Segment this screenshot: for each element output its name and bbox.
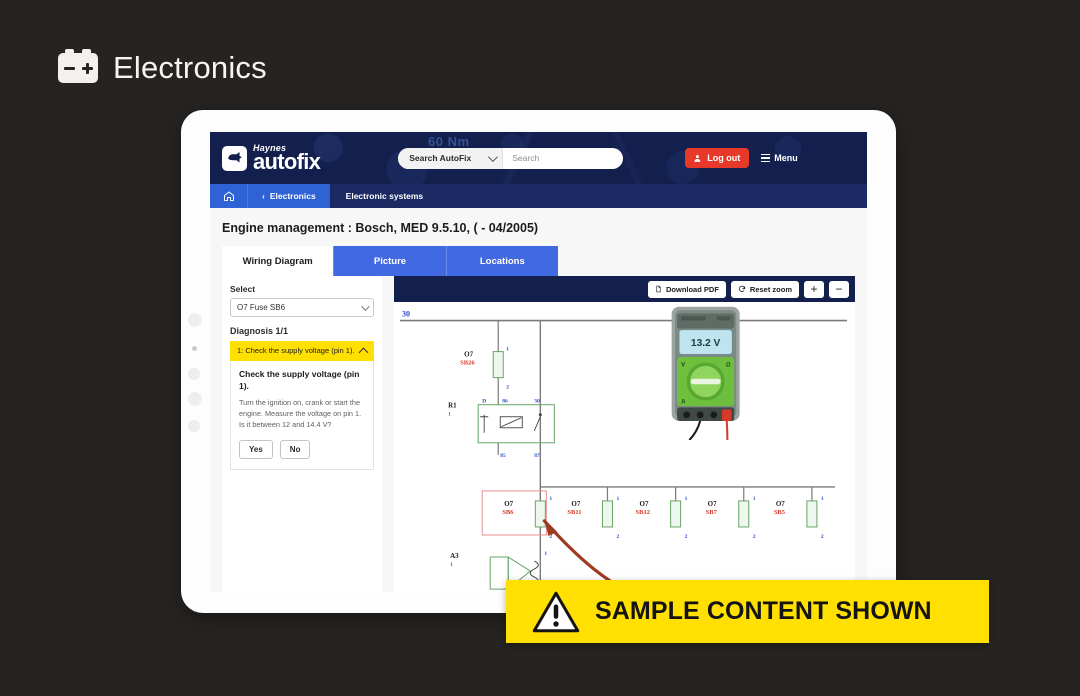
multimeter-reading: 13.2 V <box>691 338 721 349</box>
svg-text:O7: O7 <box>504 500 513 508</box>
svg-text:O7: O7 <box>708 500 717 508</box>
svg-text:O7: O7 <box>571 500 580 508</box>
tablet-side-button[interactable] <box>188 368 200 380</box>
svg-text:30: 30 <box>534 399 540 405</box>
svg-text:1: 1 <box>616 496 619 502</box>
multimeter: 13.2 V V Ω A <box>666 304 748 440</box>
logout-button[interactable]: Log out <box>685 148 749 168</box>
select-label: Select <box>230 284 374 294</box>
tab-picture[interactable]: Picture <box>333 246 445 276</box>
tablet-device: 60 Nm Haynes autofix Search AutoFix <box>181 110 896 613</box>
reset-zoom-label: Reset zoom <box>750 285 792 294</box>
hamburger-icon <box>761 152 770 164</box>
app-header: 60 Nm Haynes autofix Search AutoFix <box>210 132 867 184</box>
fuse-group-highlighted: O7 SB6 1 2 <box>502 496 552 540</box>
reset-zoom-button[interactable]: Reset zoom <box>731 281 799 298</box>
tablet-side-button[interactable] <box>188 392 202 406</box>
diagnosis-step-header[interactable]: 1: Check the supply voltage (pin 1). <box>230 341 374 361</box>
svg-text:2: 2 <box>753 534 756 540</box>
search-bar: Search AutoFix Search <box>398 148 623 169</box>
diagnosis-panel: Select O7 Fuse SB6 Diagnosis 1/1 1: Chec… <box>222 276 382 592</box>
svg-text:1: 1 <box>753 496 756 502</box>
svg-text:SB12: SB12 <box>636 509 650 516</box>
diagnosis-step-label: 1: Check the supply voltage (pin 1). <box>237 346 355 356</box>
tablet-camera-dot <box>192 346 197 351</box>
screenshot-root: Electronics 60 Nm Haynes <box>0 0 1080 696</box>
fuse-group: O7 SB5 1 2 <box>774 487 824 540</box>
svg-text:SB5: SB5 <box>774 509 786 516</box>
download-pdf-button[interactable]: Download PDF <box>648 281 726 298</box>
relay-label: R1 <box>448 402 457 410</box>
svg-text:2: 2 <box>506 385 509 391</box>
svg-text:O7: O7 <box>640 500 649 508</box>
chevron-down-icon <box>488 152 498 162</box>
tab-wiring-diagram[interactable]: Wiring Diagram <box>222 246 333 276</box>
chevron-down-icon <box>361 302 369 310</box>
user-icon <box>694 154 703 163</box>
watermark-torque-label: 60 Nm <box>428 134 470 149</box>
diagnosis-heading: Diagnosis 1/1 <box>230 326 374 336</box>
svg-text:Ω: Ω <box>726 362 731 369</box>
svg-text:1: 1 <box>549 496 552 502</box>
viewer-toolbar: Download PDF Reset zoom + − <box>394 276 855 302</box>
zoom-in-button[interactable]: + <box>804 281 824 298</box>
sample-banner-text: SAMPLE CONTENT SHOWN <box>595 597 932 626</box>
home-icon <box>223 190 235 202</box>
fuse-group: O7 SB11 1 2 <box>567 487 619 540</box>
step-title: Check the supply voltage (pin 1). <box>239 369 365 392</box>
step-instructions: Turn the ignition on, crank or start the… <box>239 398 365 431</box>
menu-button[interactable]: Menu <box>761 152 798 164</box>
svg-text:86: 86 <box>502 399 508 405</box>
battery-icon <box>58 53 98 83</box>
bus-label: 30 <box>402 310 410 319</box>
svg-text:2: 2 <box>821 534 824 540</box>
svg-text:O7: O7 <box>776 500 785 508</box>
wiring-diagram-canvas[interactable]: 30 O7 SB26 1 <box>394 302 855 592</box>
tab-locations[interactable]: Locations <box>446 246 558 276</box>
svg-text:1: 1 <box>821 496 824 502</box>
haynes-badge-icon <box>222 146 247 171</box>
tablet-screen: 60 Nm Haynes autofix Search AutoFix <box>210 132 867 592</box>
warning-triangle-icon <box>532 591 580 633</box>
chevron-left-icon: ‹ <box>262 191 265 201</box>
tablet-side-button[interactable] <box>188 420 200 432</box>
haynes-autofix-logo[interactable]: Haynes autofix <box>222 144 320 173</box>
tablet-side-button[interactable] <box>188 313 202 327</box>
component-select[interactable]: O7 Fuse SB6 <box>230 298 374 317</box>
svg-text:1: 1 <box>450 562 453 568</box>
breadcrumb-home-button[interactable] <box>210 184 247 208</box>
search-scope-value: Search AutoFix <box>409 153 471 163</box>
breadcrumb-previous-label: Electronics <box>270 191 316 201</box>
search-input[interactable]: Search <box>503 153 623 163</box>
svg-text:1: 1 <box>544 551 547 557</box>
svg-text:O7: O7 <box>464 351 473 359</box>
component-label: A3 <box>450 552 459 560</box>
logo-autofix-text: autofix <box>253 151 320 173</box>
system-title: Engine management : Bosch, MED 9.5.10, (… <box>210 208 867 235</box>
search-scope-select[interactable]: Search AutoFix <box>398 148 503 169</box>
svg-text:2: 2 <box>685 534 688 540</box>
svg-text:1: 1 <box>685 496 688 502</box>
svg-text:D: D <box>482 399 486 405</box>
breadcrumb-item-electronics[interactable]: ‹ Electronics <box>247 184 330 208</box>
svg-text:1: 1 <box>448 412 451 418</box>
chevron-up-icon <box>359 348 369 358</box>
svg-text:SB6: SB6 <box>502 509 514 516</box>
svg-text:87: 87 <box>534 453 540 459</box>
diagnosis-step-body: Check the supply voltage (pin 1). Turn t… <box>230 361 374 470</box>
download-pdf-label: Download PDF <box>666 285 719 294</box>
answer-buttons: Yes No <box>239 440 365 459</box>
breadcrumb: ‹ Electronics Electronic systems <box>210 184 867 208</box>
svg-text:SB26: SB26 <box>460 360 475 367</box>
diagram-viewer: Download PDF Reset zoom + − <box>394 276 855 592</box>
brand-header: Electronics <box>58 50 267 86</box>
svg-text:A: A <box>681 398 686 405</box>
component-select-value: O7 Fuse SB6 <box>237 303 285 312</box>
page-title: Electronics <box>113 50 267 86</box>
svg-text:85: 85 <box>500 453 506 459</box>
logout-label: Log out <box>707 153 740 163</box>
svg-text:SB11: SB11 <box>567 509 581 516</box>
svg-text:2: 2 <box>616 534 619 540</box>
yes-button[interactable]: Yes <box>239 440 273 459</box>
svg-text:1: 1 <box>506 347 509 353</box>
zoom-out-button[interactable]: − <box>829 281 849 298</box>
fuse-group: O7 SB7 1 2 <box>706 487 756 540</box>
content-row: Select O7 Fuse SB6 Diagnosis 1/1 1: Chec… <box>210 276 867 592</box>
wiring-diagram-svg: 30 O7 SB26 1 <box>394 302 855 592</box>
menu-label: Menu <box>774 153 798 163</box>
fuse-group: O7 SB12 1 2 <box>636 487 688 540</box>
breadcrumb-item-current: Electronic systems <box>330 184 439 208</box>
sample-content-banner: SAMPLE CONTENT SHOWN <box>506 580 989 643</box>
no-button[interactable]: No <box>280 440 311 459</box>
document-icon <box>655 285 662 293</box>
svg-text:SB7: SB7 <box>706 509 718 516</box>
refresh-icon <box>738 285 746 293</box>
app-body: Engine management : Bosch, MED 9.5.10, (… <box>210 208 867 592</box>
tab-bar: Wiring Diagram Picture Locations <box>222 246 558 276</box>
